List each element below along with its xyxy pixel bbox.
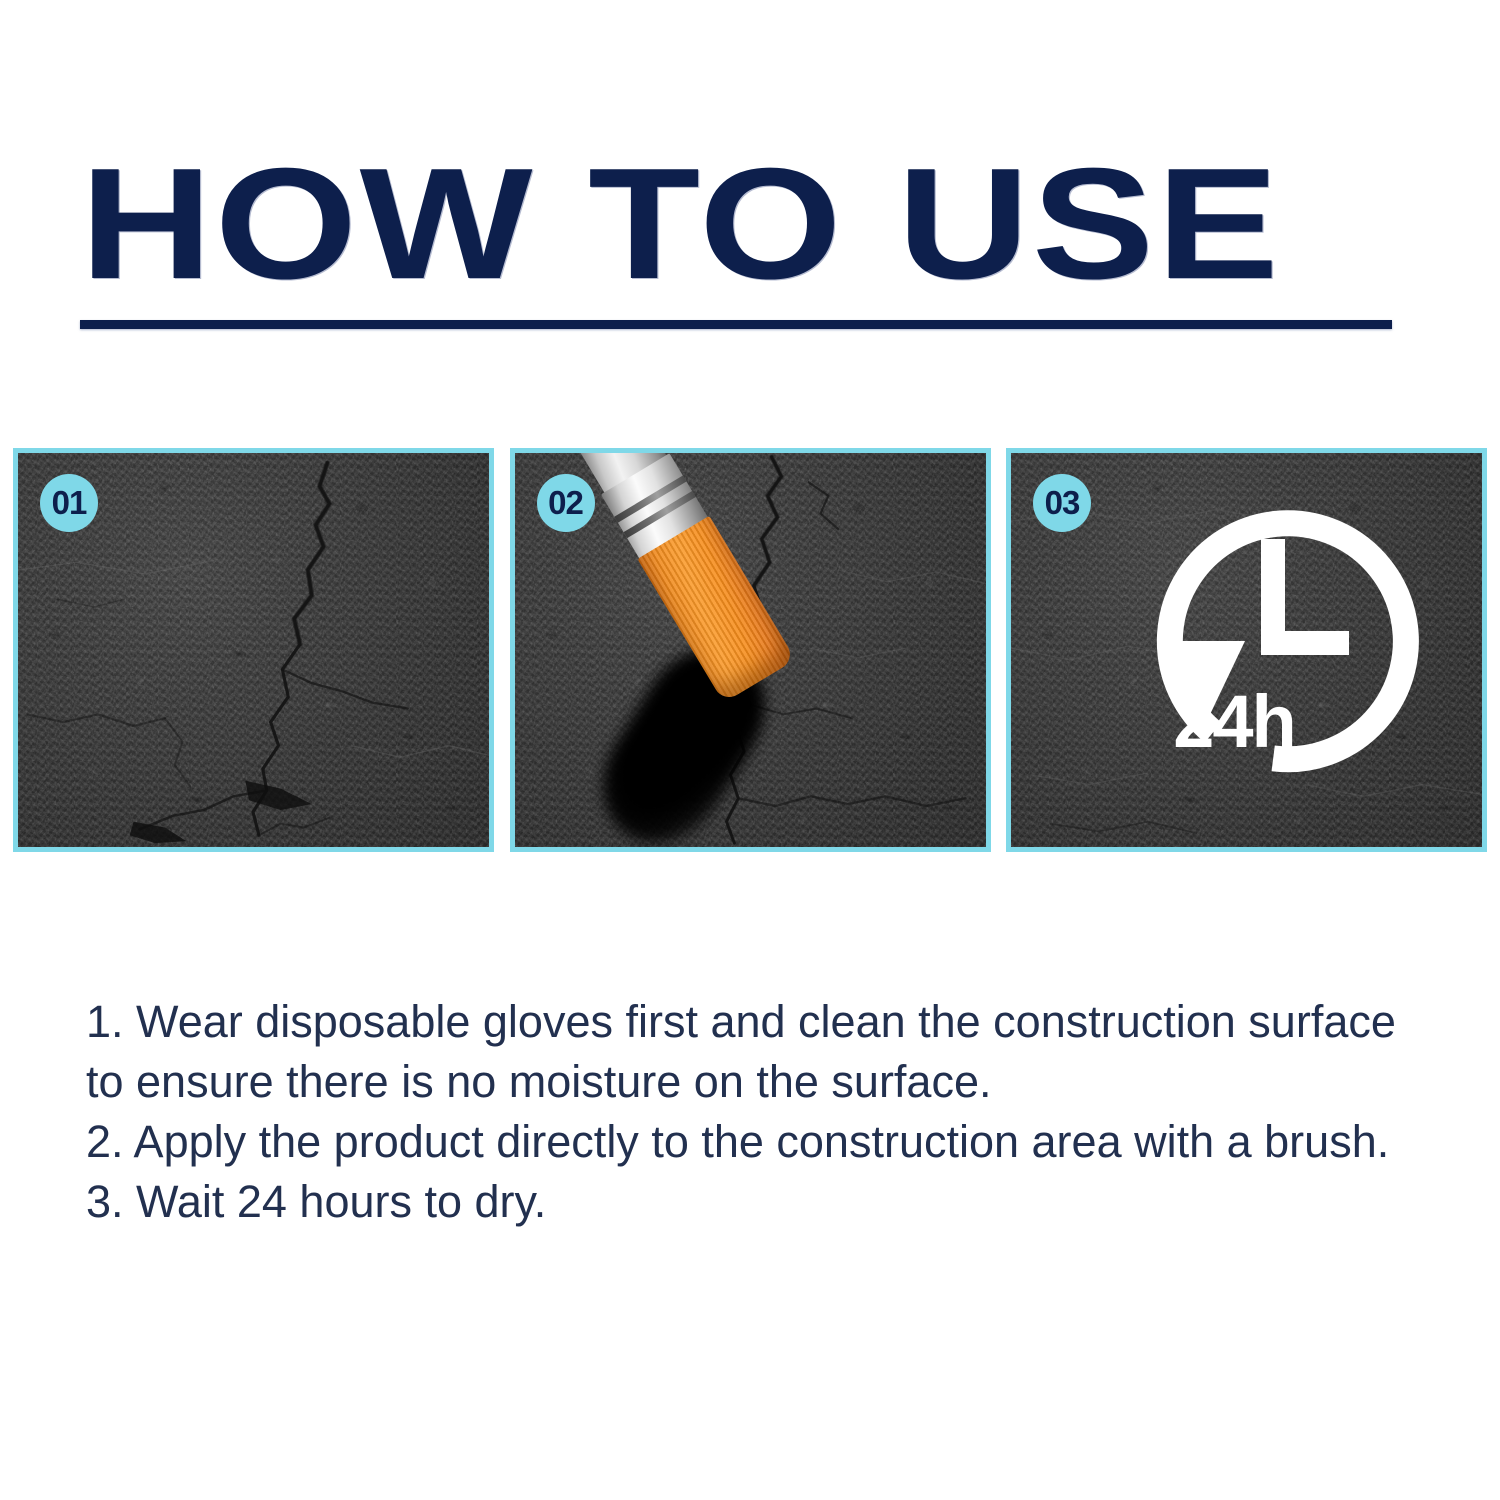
instructions-list: 1. Wear disposable gloves first and clea… <box>86 992 1426 1232</box>
page-title: HOW TO USE <box>80 145 1500 303</box>
step-badge-01: 01 <box>40 474 98 532</box>
step-panel-02: 02 <box>510 448 991 852</box>
step-badge-02: 02 <box>537 474 595 532</box>
timer-label-24h: 24h <box>1129 685 1339 759</box>
instruction-line-2: 2. Apply the product directly to the con… <box>86 1112 1426 1172</box>
instruction-line-3: 3. Wait 24 hours to dry. <box>86 1172 1426 1232</box>
step-panel-03: 24h 03 <box>1006 448 1487 852</box>
page-header: HOW TO USE <box>80 145 1400 303</box>
title-underline-rule <box>80 320 1392 329</box>
step-panel-01: 01 <box>13 448 494 852</box>
instruction-line-1: 1. Wear disposable gloves first and clea… <box>86 992 1426 1112</box>
step-badge-03: 03 <box>1033 474 1091 532</box>
steps-image-row: 01 <box>13 448 1487 852</box>
